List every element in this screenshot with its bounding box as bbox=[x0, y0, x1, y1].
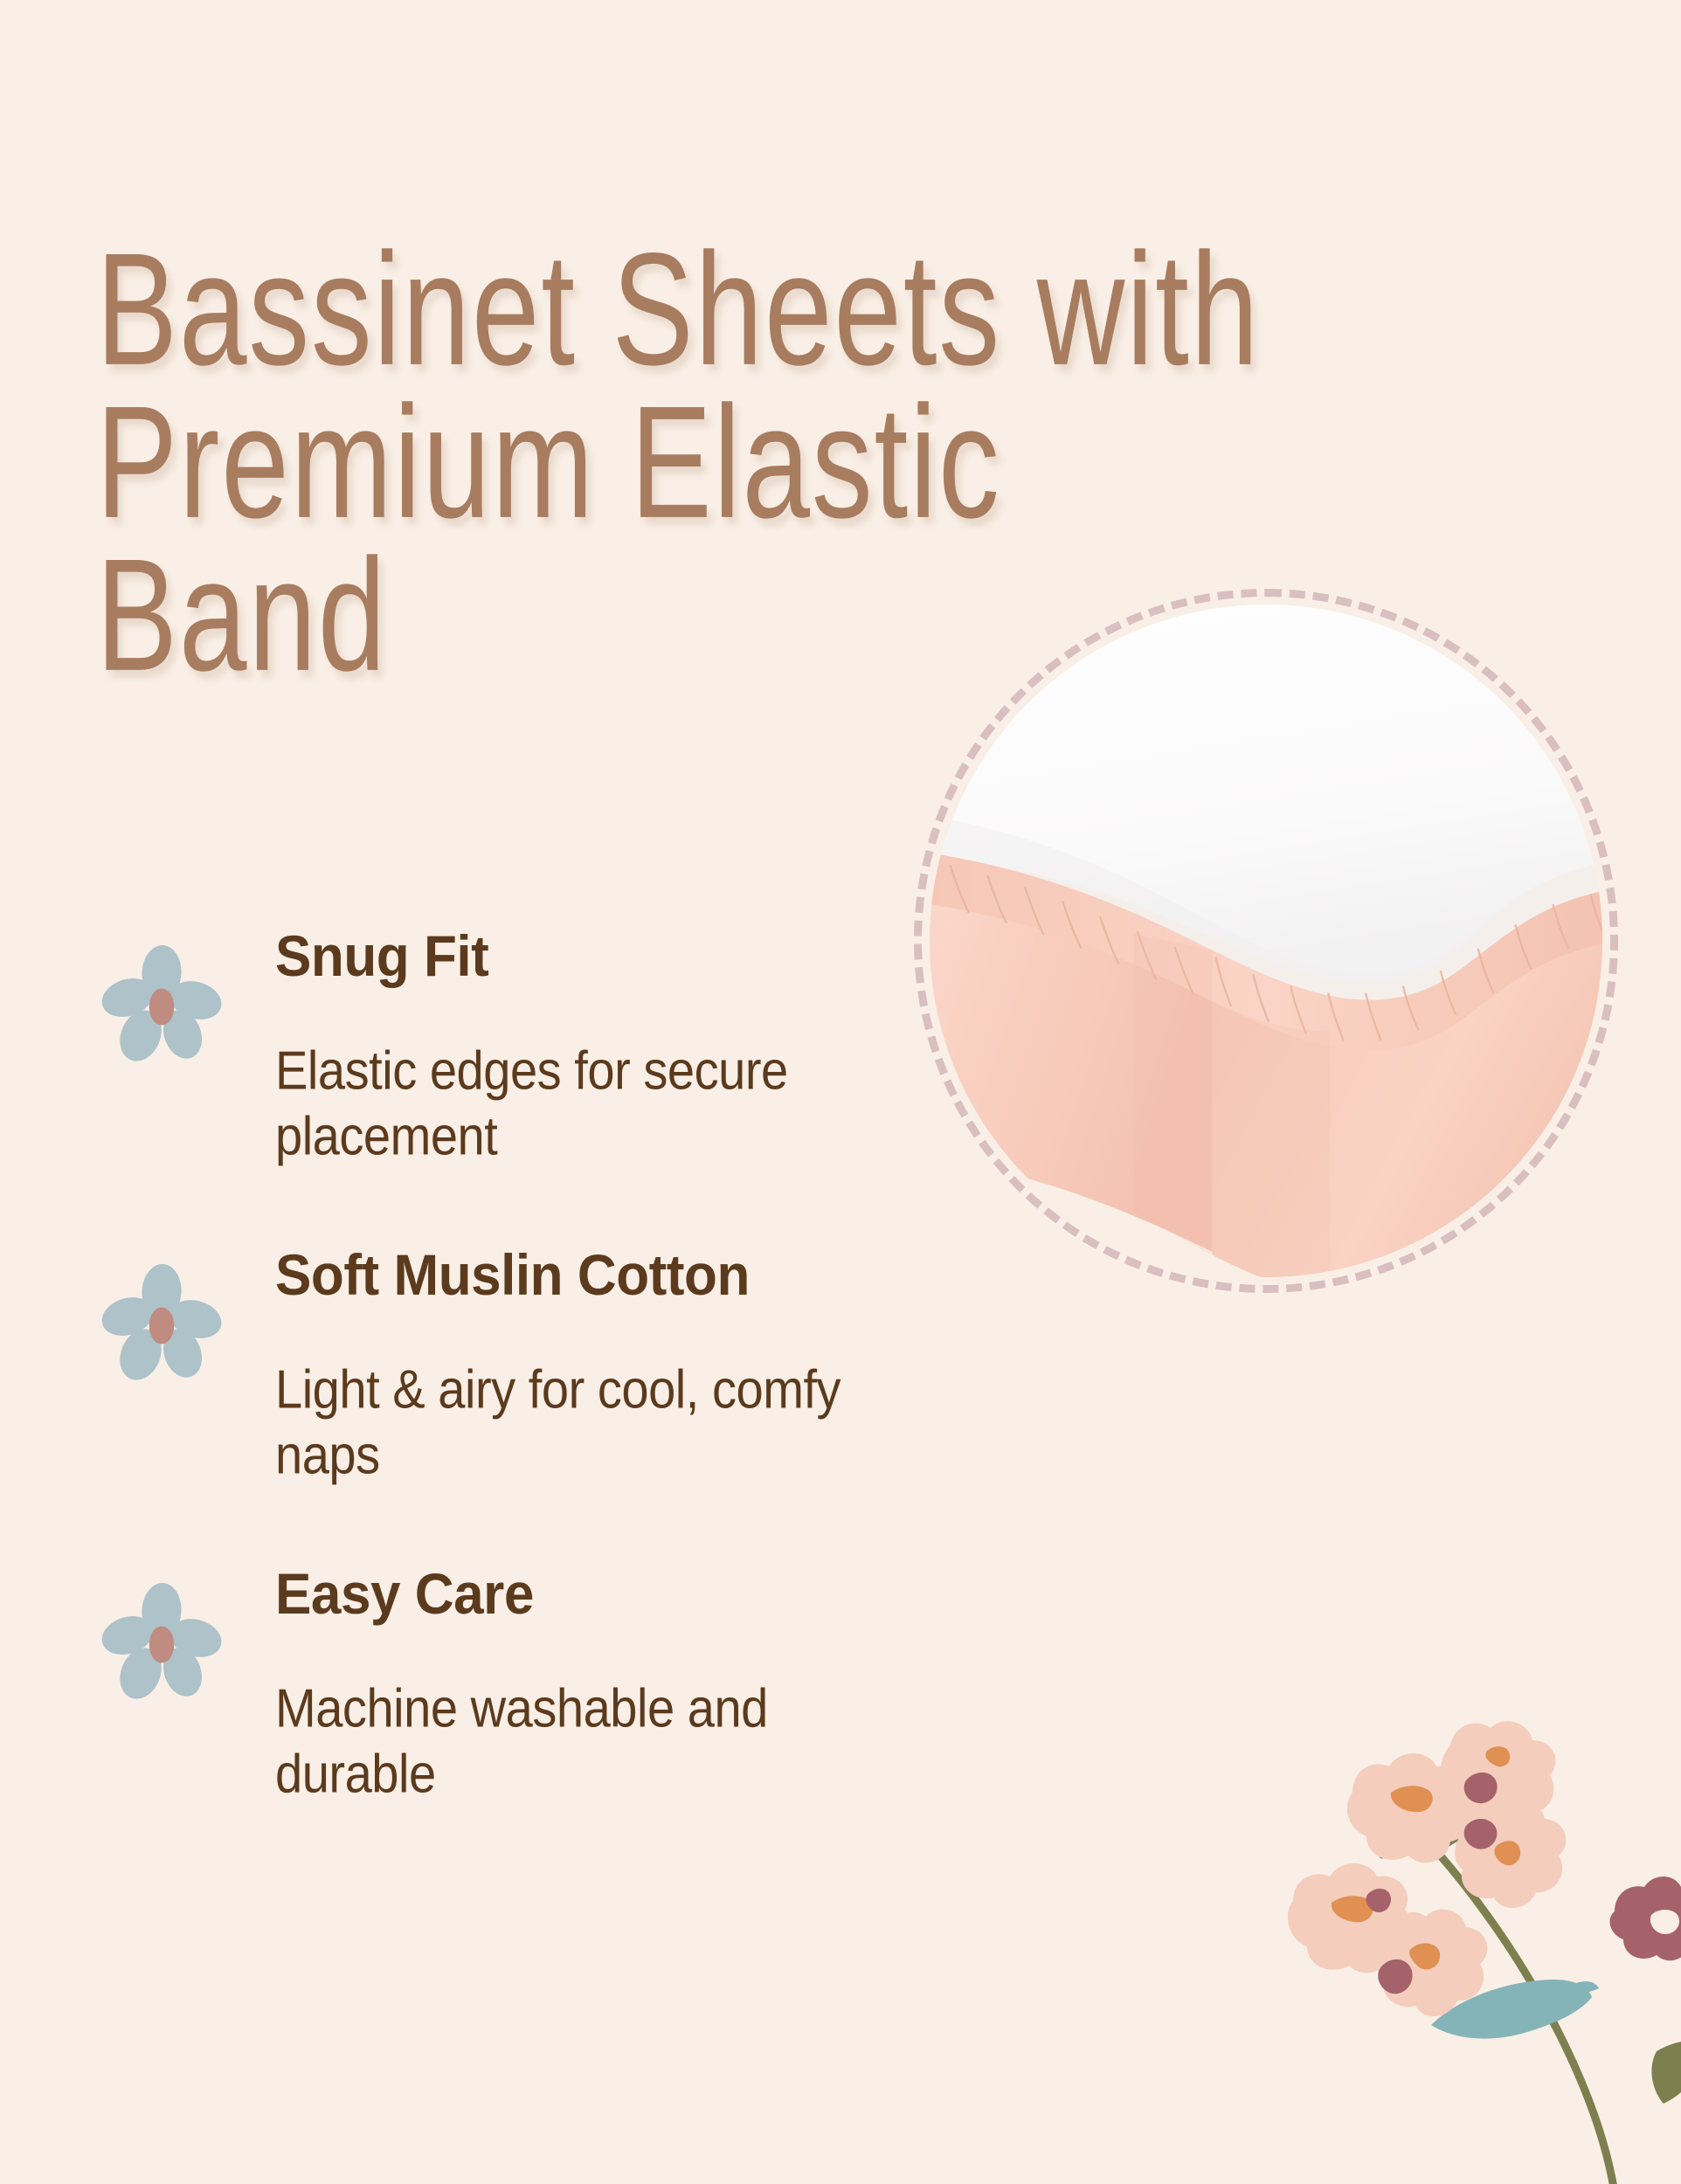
feature-title: Easy Care bbox=[275, 1564, 928, 1624]
flower-stem-branch-2 bbox=[1435, 1836, 1463, 1857]
flower-stem-main bbox=[1396, 1808, 1615, 2184]
feature-description: Elastic edges for secure placement bbox=[275, 1038, 923, 1169]
fitted-sheet-illustration bbox=[930, 605, 1602, 1277]
sheet-shadow-left bbox=[1134, 933, 1213, 1254]
flower-stem-branch-3 bbox=[1382, 1835, 1412, 1856]
flower-stem-branch bbox=[1398, 1807, 1421, 1845]
feature-item-easy-care: Easy Care Machine washable and durable bbox=[96, 1564, 970, 1799]
title-line-2: Premium Elastic bbox=[96, 387, 990, 537]
flower-peach-3 bbox=[1455, 1800, 1566, 1908]
title-line-3: Band bbox=[96, 540, 990, 690]
flower-icon-glyph bbox=[96, 1578, 227, 1709]
product-image-circle bbox=[914, 589, 1618, 1293]
feature-description: Machine washable and durable bbox=[275, 1676, 923, 1807]
feature-description: Light & airy for cool, comfy naps bbox=[275, 1357, 923, 1488]
flower-peach-1 bbox=[1347, 1753, 1471, 1863]
feature-list: Snug Fit Elastic edges for secure placem… bbox=[96, 926, 970, 1851]
title-line-1: Bassinet Sheets with bbox=[96, 234, 990, 384]
leaf-olive bbox=[1651, 2041, 1681, 2104]
feature-title: Snug Fit bbox=[275, 926, 928, 986]
leaf-teal bbox=[1431, 1980, 1592, 2039]
sheet-shadow-center bbox=[1213, 1001, 1331, 1277]
poster-canvas: Bassinet Sheets with Premium Elastic Ban… bbox=[0, 0, 1681, 2184]
flower-peach-5 bbox=[1376, 1909, 1487, 2016]
flower-peach-4 bbox=[1288, 1863, 1412, 1973]
flower-peach-2 bbox=[1441, 1721, 1555, 1830]
floral-sprig-decoration bbox=[1249, 1686, 1681, 2184]
flower-icon-glyph bbox=[96, 940, 227, 1071]
feature-title: Soft Muslin Cotton bbox=[275, 1245, 928, 1305]
flower-icon-glyph bbox=[96, 1259, 227, 1390]
floral-sprig-glyph bbox=[1249, 1686, 1681, 2184]
feature-item-soft-muslin-cotton: Soft Muslin Cotton Light & airy for cool… bbox=[96, 1245, 970, 1480]
leaf-teal-tip bbox=[1576, 1981, 1599, 1994]
flower-icon bbox=[96, 1259, 227, 1390]
page-title: Bassinet Sheets with Premium Elastic Ban… bbox=[96, 234, 1057, 693]
flower-icon bbox=[96, 940, 227, 1071]
product-image-clip bbox=[930, 605, 1602, 1277]
feature-item-snug-fit: Snug Fit Elastic edges for secure placem… bbox=[96, 926, 970, 1161]
flower-icon bbox=[96, 1578, 227, 1709]
flower-mauve bbox=[1610, 1876, 1681, 1960]
